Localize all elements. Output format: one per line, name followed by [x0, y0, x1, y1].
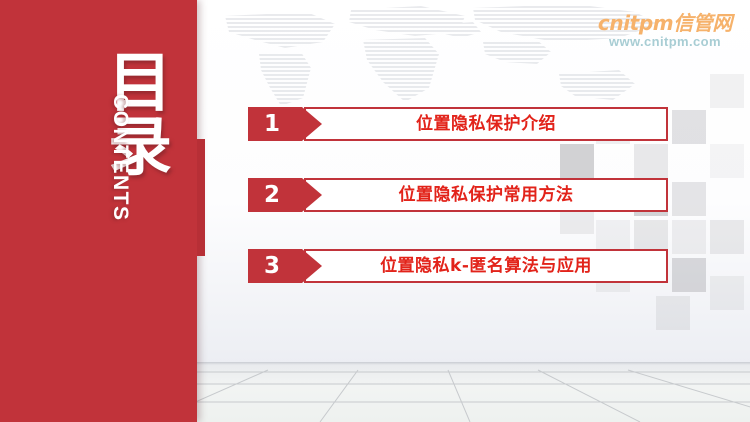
list-item[interactable]: 位置隐私k-匿名算法与应用 3	[248, 249, 668, 283]
toc-title-group: 目录 CONTENTS	[102, 52, 212, 232]
contents-row-label: 位置隐私保护常用方法	[304, 178, 668, 212]
site-watermark: cnitpm信管网 www.cnitpm.com	[598, 12, 732, 50]
list-item[interactable]: 位置隐私保护常用方法 2	[248, 178, 668, 212]
contents-row-label: 位置隐私保护介绍	[304, 107, 668, 141]
contents-row-label: 位置隐私k-匿名算法与应用	[304, 249, 668, 283]
red-sidebar-panel: 目录 CONTENTS	[0, 0, 197, 422]
watermark-url: www.cnitpm.com	[598, 34, 732, 50]
red-panel-accent-tab	[197, 139, 205, 256]
watermark-brand: cnitpm信管网	[598, 12, 732, 34]
presentation-slide: 目录 CONTENTS cnitpm信管网 www.cnitpm.com 位置隐…	[0, 0, 750, 422]
toc-title-en: CONTENTS	[108, 94, 132, 222]
contents-list: 位置隐私保护介绍 1 位置隐私保护常用方法 2 位置隐私k-匿名算法与应用 3	[248, 107, 668, 320]
list-item[interactable]: 位置隐私保护介绍 1	[248, 107, 668, 141]
